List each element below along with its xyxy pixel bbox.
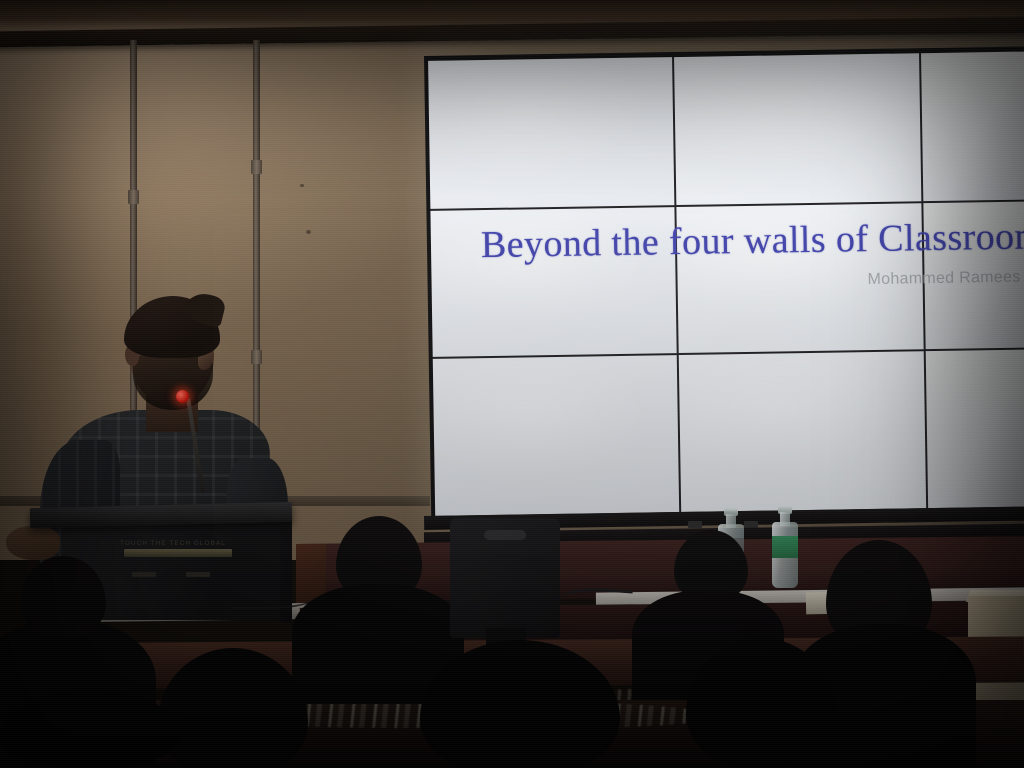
podium-brand-label: TOUCH THE TECH GLOBAL <box>120 540 240 547</box>
video-wall-display[interactable]: Beyond the four walls of Classroom Moham… <box>424 46 1024 521</box>
wall-mark <box>300 184 304 187</box>
conference-chair-back <box>450 518 560 638</box>
display-panel <box>923 202 1024 349</box>
podium-button[interactable] <box>132 572 156 577</box>
display-panel <box>677 204 924 353</box>
display-panel <box>675 53 922 205</box>
display-panel <box>433 355 680 516</box>
microphone-led-icon <box>176 390 189 403</box>
wall-mark <box>306 230 311 234</box>
podium-button[interactable] <box>186 572 210 577</box>
video-wall-panel-grid <box>428 52 1024 516</box>
display-panel <box>679 351 926 512</box>
display-panel <box>926 349 1024 508</box>
photo-stage: Beyond the four walls of Classroom Moham… <box>0 0 1024 768</box>
display-panel <box>921 52 1024 202</box>
display-panel <box>430 207 677 356</box>
podium-display-strip <box>124 549 232 557</box>
video-wall-foot <box>688 521 702 528</box>
display-panel <box>428 57 675 209</box>
chair-handle-slot <box>484 530 526 540</box>
presenter-hand <box>6 526 60 560</box>
bottle-label <box>772 536 798 558</box>
